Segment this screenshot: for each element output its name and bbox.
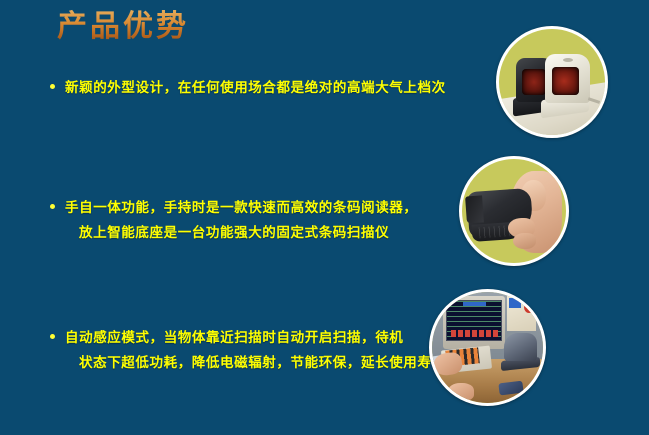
bullet-dot-icon bbox=[50, 334, 55, 339]
pos-screen bbox=[446, 300, 502, 341]
bullet-item-3: 自动感应模式，当物体靠近扫描时自动开启扫描，待机 状态下超低功耗，降低电磁辐射，… bbox=[50, 326, 446, 376]
poster-blue-block bbox=[509, 298, 521, 308]
bullet-item-1: 新颖的外型设计，在任何使用场合都是绝对的高端大气上档次 bbox=[50, 76, 446, 101]
counter-scanner bbox=[504, 333, 537, 361]
fixed-mount-scanners-photo bbox=[496, 26, 608, 138]
finger-two bbox=[513, 233, 536, 250]
bullet-text-3: 自动感应模式，当物体靠近扫描时自动开启扫描，待机 状态下超低功耗，降低电磁辐射，… bbox=[65, 326, 446, 376]
bullet-dot-icon bbox=[50, 204, 55, 209]
pos-checkout-scene-photo bbox=[429, 289, 546, 406]
photo-content bbox=[432, 292, 543, 403]
bullet-text-1: 新颖的外型设计，在任何使用场合都是绝对的高端大气上档次 bbox=[65, 76, 446, 101]
bullet-line-1a: 新颖的外型设计，在任何使用场合都是绝对的高端大气上档次 bbox=[65, 80, 446, 96]
photo-content bbox=[462, 159, 566, 263]
bullet-dot-icon bbox=[50, 84, 55, 89]
white-scanner-window bbox=[552, 67, 579, 95]
bullet-item-2: 手自一体功能，手持时是一款快速而高效的条码阅读器， 放上智能底座是一台功能强大的… bbox=[50, 196, 418, 246]
bullet-line-2b: 放上智能底座是一台功能强大的固定式条码扫描仪 bbox=[65, 221, 418, 246]
bullet-line-3a: 自动感应模式，当物体靠近扫描时自动开启扫描，待机 bbox=[65, 330, 403, 346]
screen-highlight-row bbox=[451, 330, 498, 337]
page-title: 产品优势 bbox=[57, 8, 189, 46]
black-scanner-window bbox=[522, 69, 545, 94]
screen-title-bar bbox=[463, 302, 485, 306]
bullet-line-3b: 状态下超低功耗，降低电磁辐射，节能环保，延长使用寿命 bbox=[65, 351, 446, 376]
white-scanner-button bbox=[563, 58, 574, 62]
bullet-text-2: 手自一体功能，手持时是一款快速而高效的条码阅读器， 放上智能底座是一台功能强大的… bbox=[65, 196, 418, 246]
slide-canvas: 产品优势 新颖的外型设计，在任何使用场合都是绝对的高端大气上档次 手自一体功能，… bbox=[0, 0, 649, 435]
handheld-scanner-in-hand-photo bbox=[459, 156, 569, 266]
scanner-scan-window bbox=[465, 196, 483, 224]
photo-content bbox=[499, 29, 605, 135]
bullet-line-2a: 手自一体功能，手持时是一款快速而高效的条码阅读器， bbox=[65, 200, 418, 216]
operator-hand-lower bbox=[448, 383, 475, 401]
